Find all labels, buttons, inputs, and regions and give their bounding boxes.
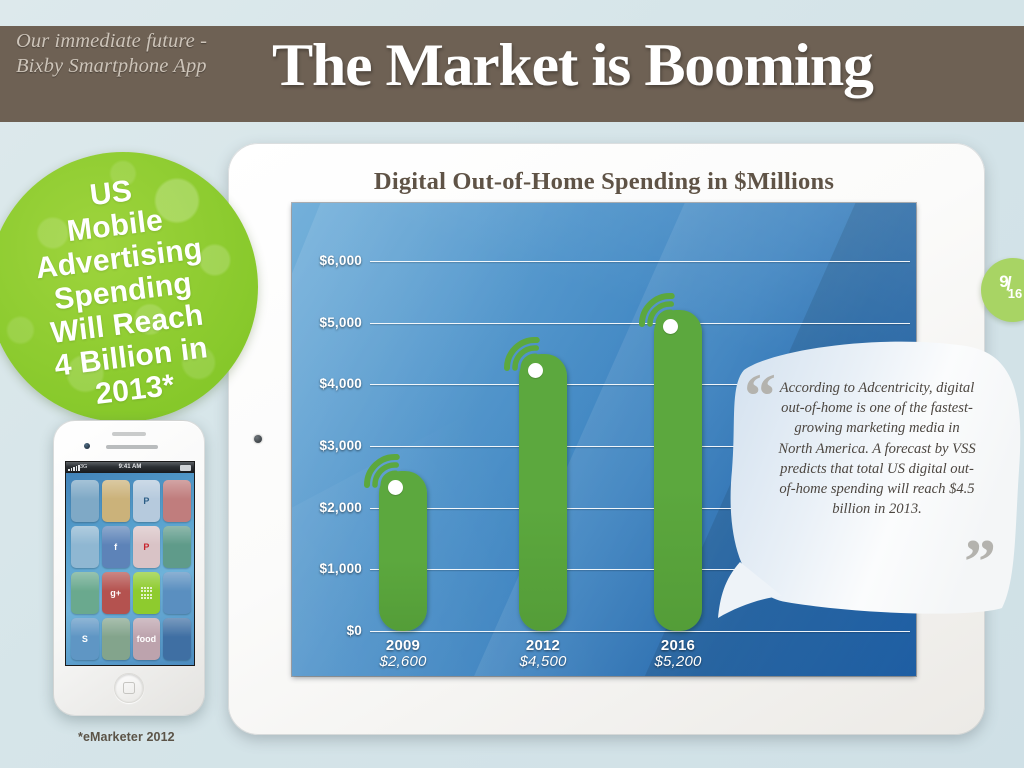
x-axis-value: $4,500 — [473, 653, 613, 670]
quote-callout: “ According to Adcentricity, digital out… — [716, 330, 1024, 626]
phone-speaker-grille — [112, 432, 146, 436]
y-axis-tick-label: $6,000 — [292, 253, 362, 268]
pandora-app-icon[interactable]: P — [133, 480, 161, 522]
wifi-signal-icon — [630, 282, 676, 328]
home-button-square-icon — [123, 682, 135, 694]
starbucks-app-icon[interactable] — [163, 526, 191, 568]
tablet-camera-icon — [254, 435, 262, 443]
footnote: *eMarketer 2012 — [78, 730, 175, 744]
bixby-app-icon[interactable] — [133, 572, 161, 614]
header-subtitle: Our immediate future - Bixby Smartphone … — [16, 29, 264, 79]
page-number-badge: 9 / 16 — [981, 258, 1024, 322]
page-title: The Market is Booming — [272, 34, 873, 96]
quote-close-mark: ” — [964, 530, 996, 594]
highlight-badge: US Mobile Advertising Spending Will Reac… — [0, 152, 258, 422]
x-axis-value: $5,200 — [608, 653, 748, 670]
y-axis-tick-label: $5,000 — [292, 315, 362, 330]
gridline — [370, 261, 910, 262]
phone-home-button[interactable] — [114, 673, 144, 703]
x-axis-label-group: 2012$4,500 — [473, 637, 613, 670]
status-bar-clock: 9:41 AM — [66, 462, 194, 473]
phone-app-grid: PfPg+Sfood — [71, 480, 191, 660]
x-axis-category: 2016 — [608, 637, 748, 654]
quote-text: According to Adcentricity, digital out-o… — [778, 378, 976, 519]
pinterest-app-icon[interactable]: P — [133, 526, 161, 568]
phone-earpiece — [106, 445, 158, 449]
tripadvisor-app-icon[interactable] — [102, 618, 130, 660]
phone-camera-icon — [84, 443, 90, 449]
bar-2016 — [654, 310, 702, 631]
smartphone-mockup: 3G 9:41 AM PfPg+Sfood — [53, 420, 205, 716]
wifi-signal-icon — [495, 326, 541, 372]
download-app-icon[interactable] — [102, 480, 130, 522]
y-axis-tick-label: $4,000 — [292, 376, 362, 391]
phone-status-bar: 3G 9:41 AM — [66, 462, 194, 473]
chart-title: Digital Out-of-Home Spending in $Million… — [292, 168, 916, 196]
x-axis-label-group: 2009$2,600 — [333, 637, 473, 670]
quote-open-mark: “ — [744, 364, 776, 428]
x-axis-category: 2009 — [333, 637, 473, 654]
google-earth-app-icon[interactable] — [163, 618, 191, 660]
y-axis-tick-label: $1,000 — [292, 561, 362, 576]
facebook-app-icon[interactable]: f — [102, 526, 130, 568]
battery-icon — [180, 465, 191, 471]
highlight-badge-text: US Mobile Advertising Spending Will Reac… — [0, 160, 271, 422]
y-axis-tick-label: $0 — [292, 623, 362, 638]
whatsapp-app-icon[interactable] — [71, 572, 99, 614]
angry-birds-app-icon[interactable] — [71, 480, 99, 522]
y-axis-tick-label: $3,000 — [292, 438, 362, 453]
gridline — [370, 631, 910, 632]
x-axis-label-group: 2016$5,200 — [608, 637, 748, 670]
x-axis-category: 2012 — [473, 637, 613, 654]
shazam-app-icon[interactable]: S — [71, 618, 99, 660]
x-axis-value: $2,600 — [333, 653, 473, 670]
page-number-total: 16 — [995, 286, 1024, 301]
food-network-app-icon[interactable]: food — [133, 618, 161, 660]
twitter-app-icon[interactable] — [163, 572, 191, 614]
slide-canvas: Our immediate future - Bixby Smartphone … — [0, 0, 1024, 768]
phone-screen: 3G 9:41 AM PfPg+Sfood — [65, 461, 195, 666]
nike-plus-app-icon[interactable] — [163, 480, 191, 522]
wifi-signal-icon — [355, 443, 401, 489]
google-plus-app-icon[interactable]: g+ — [102, 572, 130, 614]
bar-2012 — [519, 354, 567, 632]
bar-2009 — [379, 471, 427, 631]
y-axis-tick-label: $2,000 — [292, 500, 362, 515]
mail-app-icon[interactable] — [71, 526, 99, 568]
